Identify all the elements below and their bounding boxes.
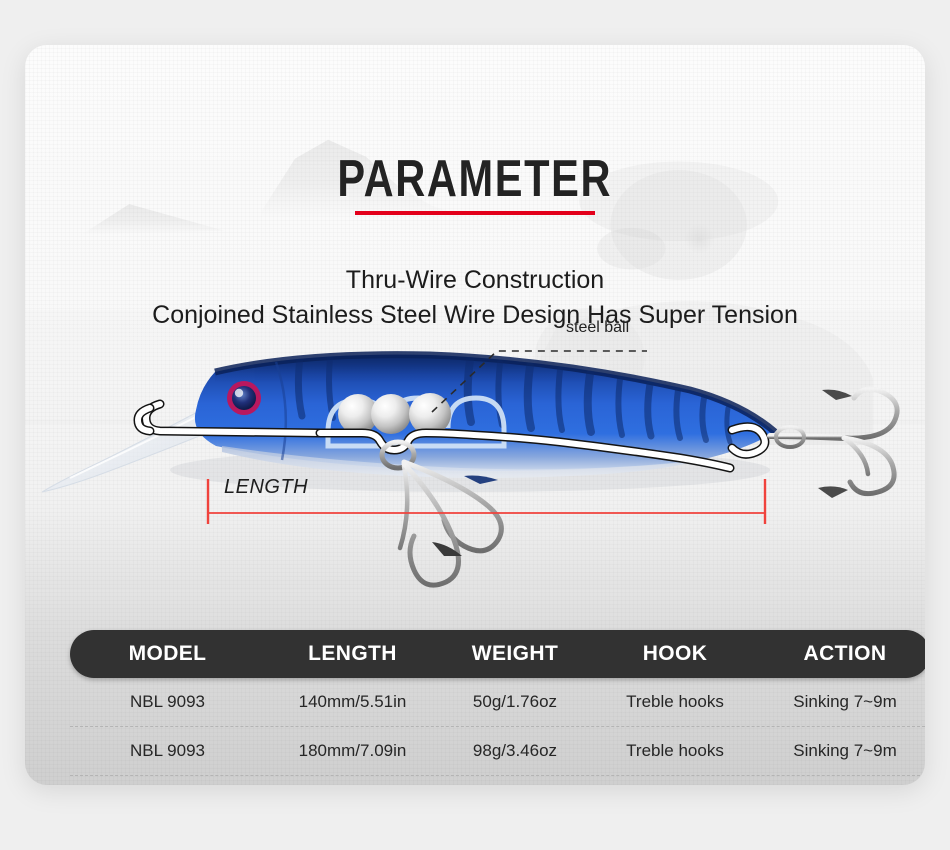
cell-weight: 50g/1.76oz (440, 692, 590, 712)
length-annotation-label: LENGTH (224, 476, 308, 499)
infographic-page: PARAMETER Thru-Wire Construction Conjoin… (0, 0, 950, 850)
steel-ball-annotation-label: steel ball (566, 319, 629, 337)
spec-table: MODEL LENGTH WEIGHT HOOK ACTION NBL 9093… (70, 630, 925, 776)
column-header-weight: WEIGHT (440, 642, 590, 666)
column-header-action: ACTION (760, 642, 925, 666)
cell-model: NBL 9093 (70, 741, 265, 761)
subtitle-line-1: Thru-Wire Construction (25, 266, 925, 295)
cell-length: 140mm/5.51in (265, 692, 440, 712)
spec-table-header-row: MODEL LENGTH WEIGHT HOOK ACTION (70, 630, 925, 678)
cell-action: Sinking 7~9m (760, 741, 925, 761)
cell-action: Sinking 7~9m (760, 692, 925, 712)
cell-model: NBL 9093 (70, 692, 265, 712)
column-header-model: MODEL (70, 642, 265, 666)
page-title-wrap: PARAMETER (25, 149, 925, 209)
table-row: NBL 9093 140mm/5.51in 50g/1.76oz Treble … (70, 678, 925, 727)
table-row: NBL 9093 180mm/7.09in 98g/3.46oz Treble … (70, 727, 925, 776)
subtitle-line-2: Conjoined Stainless Steel Wire Design Ha… (25, 301, 925, 330)
cell-weight: 98g/3.46oz (440, 741, 590, 761)
title-underline (355, 211, 595, 215)
cell-hook: Treble hooks (590, 692, 760, 712)
column-header-hook: HOOK (590, 642, 760, 666)
cell-length: 180mm/7.09in (265, 741, 440, 761)
cell-hook: Treble hooks (590, 741, 760, 761)
product-parameter-card: PARAMETER Thru-Wire Construction Conjoin… (25, 45, 925, 785)
page-title: PARAMETER (338, 149, 613, 209)
column-header-length: LENGTH (265, 642, 440, 666)
